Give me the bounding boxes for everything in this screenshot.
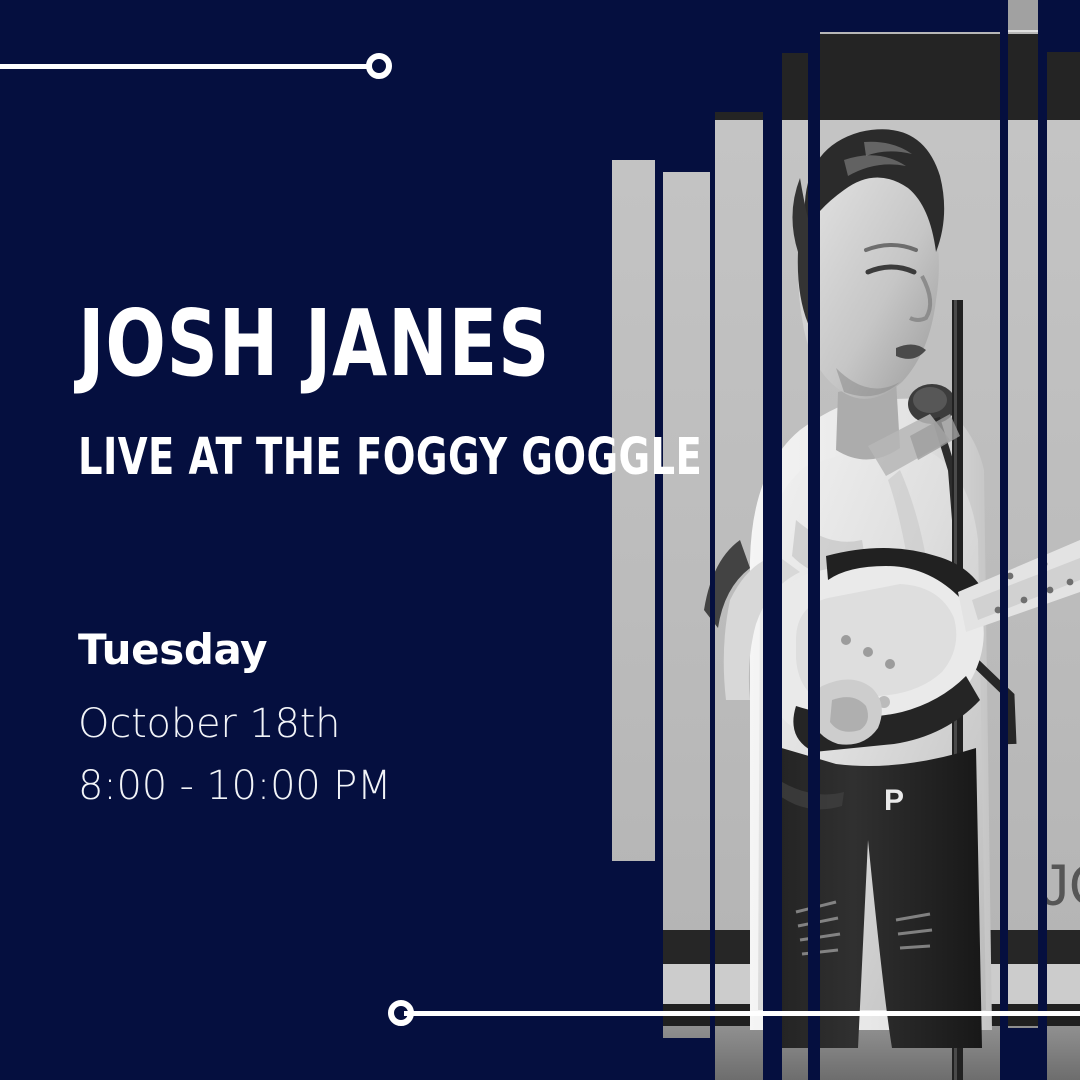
- svg-text:P: P: [884, 784, 904, 817]
- event-poster: JO: [0, 0, 1080, 1080]
- photo-stripe: JO: [782, 53, 808, 1080]
- venue-subtitle: LIVE AT THE FOGGY GOGGLE: [78, 432, 702, 483]
- bottom-accent-rule: [404, 1011, 1080, 1016]
- event-details: Tuesday October 18th 8:00 - 10:00 PM: [78, 626, 391, 817]
- event-date: October 18th: [78, 693, 391, 755]
- page-title: JOSH JANES: [78, 300, 550, 388]
- photo-stripe: JO: [715, 112, 763, 1080]
- event-day: Tuesday: [78, 626, 391, 675]
- event-time: 8:00 - 10:00 PM: [78, 755, 391, 817]
- photo-stripe: JO: [1008, 0, 1038, 1028]
- photo-stripe: JO: [820, 32, 1000, 1080]
- top-accent-rule: [0, 64, 372, 69]
- bottom-accent-ring: [388, 1000, 414, 1026]
- svg-text:JO: JO: [1047, 853, 1080, 918]
- photo-stripe: JO: [612, 160, 655, 861]
- photo-stripe: JO: [1047, 52, 1080, 1080]
- top-accent-ring: [366, 53, 392, 79]
- photo-stripe: JO: [663, 172, 710, 1038]
- photo-collage: JO: [600, 0, 1080, 1080]
